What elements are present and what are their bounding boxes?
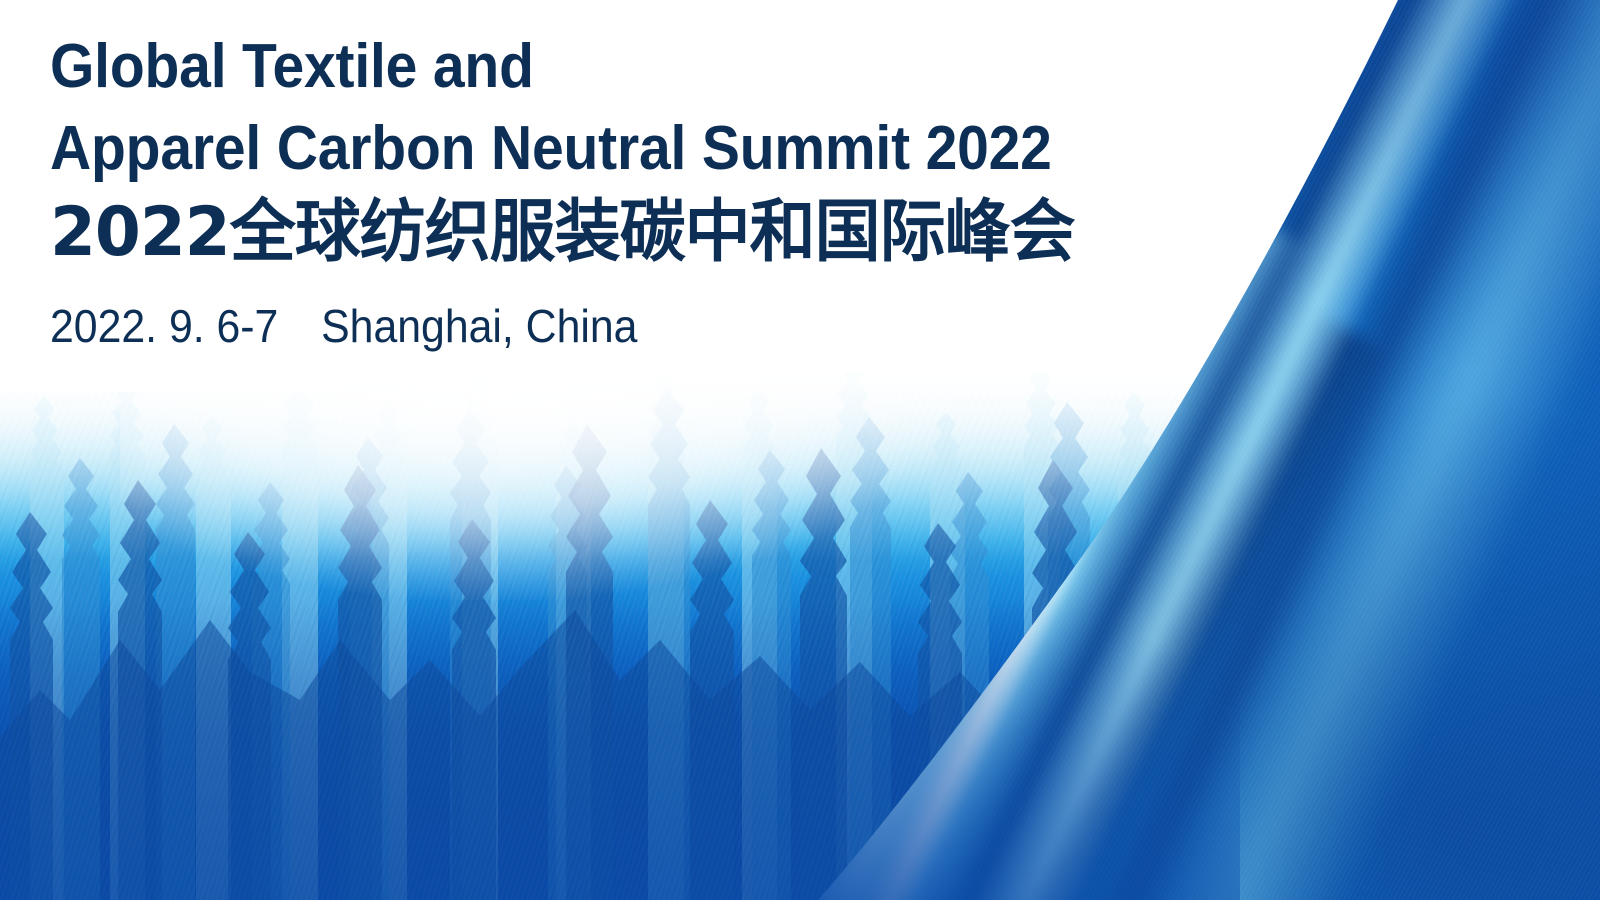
- english-title-line-2: Apparel Carbon Neutral Summit 2022: [50, 116, 1052, 182]
- event-date: 2022. 9. 6-7: [50, 300, 278, 352]
- event-meta: 2022. 9. 6-7Shanghai, China: [50, 300, 637, 352]
- conference-banner: Global Textile and Apparel Carbon Neutra…: [0, 0, 1600, 900]
- english-title-line-1: Global Textile and: [50, 34, 534, 100]
- event-location: Shanghai, China: [321, 300, 637, 352]
- chinese-title: 2022全球纺织服装碳中和国际峰会: [50, 196, 1075, 270]
